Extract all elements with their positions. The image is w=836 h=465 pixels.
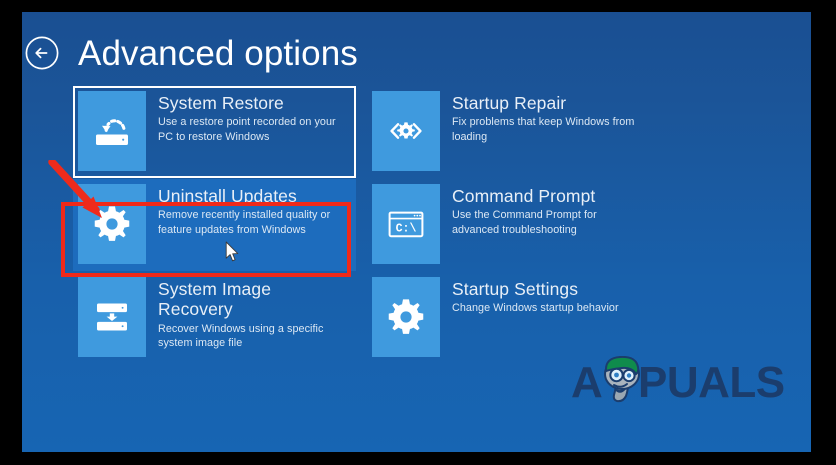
uninstall-updates-gear-icon <box>78 184 146 264</box>
tile-command-prompt[interactable]: C:\ Command Prompt Use the Command Promp… <box>367 179 650 271</box>
tile-startup-settings[interactable]: Startup Settings Change Windows startup … <box>367 272 650 364</box>
tile-text: Command Prompt Use the Command Prompt fo… <box>440 184 638 237</box>
startup-repair-gear-brackets-icon <box>372 91 440 171</box>
tile-title: Uninstall Updates <box>158 186 344 206</box>
back-arrow-circle-icon[interactable] <box>23 34 61 72</box>
tile-startup-repair[interactable]: Startup Repair Fix problems that keep Wi… <box>367 86 650 178</box>
screenshot-root: Advanced options <box>0 0 836 465</box>
page-title: Advanced options <box>78 36 358 71</box>
command-prompt-console-icon: C:\ <box>372 184 440 264</box>
tile-uninstall-updates[interactable]: Uninstall Updates Remove recently instal… <box>73 179 356 271</box>
header: Advanced options <box>22 26 811 80</box>
command-prompt-icon-text: C:\ <box>396 223 417 236</box>
tile-description: Change Windows startup behavior <box>452 301 619 315</box>
tile-system-image-recovery[interactable]: System Image Recovery Recover Windows us… <box>73 272 356 364</box>
options-grid: System Restore Use a restore point recor… <box>73 86 653 364</box>
watermark-letter-a: A <box>571 358 602 407</box>
tile-description: Recover Windows using a specific system … <box>158 322 344 351</box>
tile-description: Use a restore point recorded on your PC … <box>158 115 344 144</box>
tile-description: Use the Command Prompt for advanced trou… <box>452 208 638 237</box>
tile-title: Command Prompt <box>452 186 638 206</box>
tile-title: System Restore <box>158 93 344 113</box>
tile-description: Remove recently installed quality or fea… <box>158 208 344 237</box>
tile-text: Uninstall Updates Remove recently instal… <box>146 184 344 237</box>
system-image-recovery-icon <box>78 277 146 357</box>
tile-title: System Image Recovery <box>158 279 344 320</box>
system-restore-drive-icon <box>78 91 146 171</box>
tile-text: System Image Recovery Recover Windows us… <box>146 277 344 351</box>
recovery-environment-screen: Advanced options <box>22 12 811 452</box>
tile-text: System Restore Use a restore point recor… <box>146 91 344 144</box>
tile-system-restore[interactable]: System Restore Use a restore point recor… <box>73 86 356 178</box>
startup-settings-gear-icon <box>372 277 440 357</box>
tile-text: Startup Settings Change Windows startup … <box>440 277 619 316</box>
watermark-text-puals: PUALS <box>638 358 785 407</box>
tile-description: Fix problems that keep Windows from load… <box>452 115 638 144</box>
tile-text: Startup Repair Fix problems that keep Wi… <box>440 91 638 144</box>
tile-title: Startup Repair <box>452 93 638 113</box>
tile-title: Startup Settings <box>452 279 619 299</box>
